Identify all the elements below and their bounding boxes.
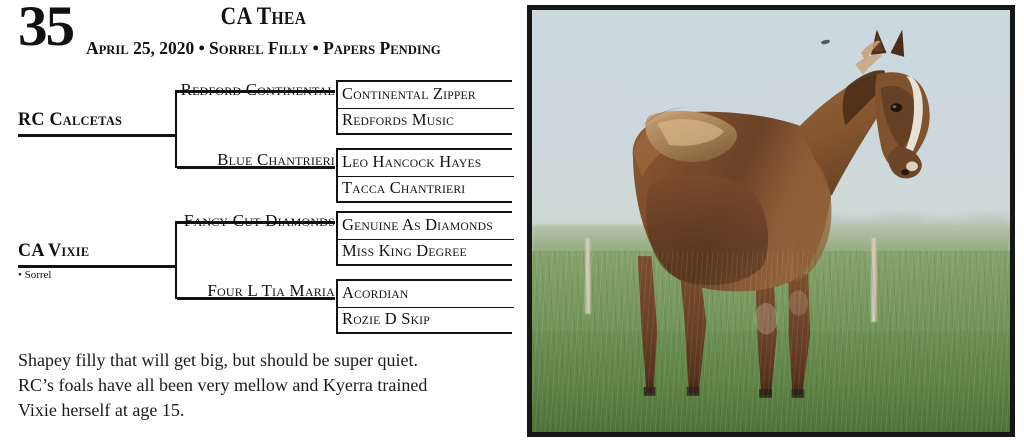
dam-dam-dam-name: Rozie D Skip bbox=[342, 309, 430, 328]
horse-photo bbox=[532, 10, 1010, 432]
sire-sire-grandparents-box: Continental Zipper Redfords Music bbox=[336, 80, 512, 135]
sire-stem bbox=[18, 134, 177, 137]
gen3-divider bbox=[338, 176, 514, 177]
dam-sire-grandparents-box: Genuine As Diamonds Miss King Degree bbox=[336, 211, 512, 266]
sire-sire-sire-name: Continental Zipper bbox=[342, 84, 476, 103]
entry-header: 35 CA Thea April 25, 2020 • Sorrel Filly… bbox=[0, 0, 527, 66]
page-title: CA Thea bbox=[37, 3, 490, 30]
dam-stem bbox=[18, 265, 177, 268]
dam-name: CA Vixie bbox=[18, 240, 89, 261]
dam-color-note: • Sorrel bbox=[18, 269, 51, 282]
sire-dam-dam-name: Tacca Chantrieri bbox=[342, 178, 465, 197]
gen3-divider bbox=[338, 108, 514, 109]
dam-sire-sire-name: Genuine As Diamonds bbox=[342, 215, 493, 234]
sire-dam-rule bbox=[177, 166, 335, 169]
catalog-entry-panel: 35 CA Thea April 25, 2020 • Sorrel Filly… bbox=[0, 0, 527, 445]
sire-sire-rule bbox=[177, 90, 335, 93]
description-text: Shapey filly that will get big, but shou… bbox=[18, 348, 510, 423]
description-line-1: Shapey filly that will get big, but shou… bbox=[18, 348, 510, 373]
grass-texture bbox=[532, 251, 1010, 432]
pedigree-tree: RC Calcetas Redford Continental Blue Cha… bbox=[0, 66, 527, 338]
description-line-3: Vixie herself at age 15. bbox=[18, 398, 510, 423]
entry-subtitle: April 25, 2020 • Sorrel Filly • Papers P… bbox=[86, 38, 503, 58]
horse-photo-frame bbox=[527, 5, 1015, 437]
pedigree-dam-branch: CA Vixie • Sorrel Fancy Cut Diamonds Fou… bbox=[0, 200, 527, 336]
dam-sire-dam-name: Miss King Degree bbox=[342, 241, 467, 260]
dam-dam-sire-name: Acordian bbox=[342, 283, 408, 302]
sire-name: RC Calcetas bbox=[18, 109, 122, 130]
gen3-divider bbox=[338, 239, 514, 240]
dam-sire-rule bbox=[177, 221, 335, 224]
dam-dam-rule bbox=[177, 297, 335, 300]
sire-sire-dam-name: Redfords Music bbox=[342, 110, 454, 129]
sire-dam-sire-name: Leo Hancock Hayes bbox=[342, 152, 481, 171]
dam-dam-grandparents-box: Acordian Rozie D Skip bbox=[336, 279, 512, 334]
gen3-divider bbox=[338, 307, 514, 308]
description-line-2: RC’s foals have all been very mellow and… bbox=[18, 373, 510, 398]
sire-dam-grandparents-box: Leo Hancock Hayes Tacca Chantrieri bbox=[336, 148, 512, 203]
pedigree-sire-branch: RC Calcetas Redford Continental Blue Cha… bbox=[0, 66, 527, 202]
